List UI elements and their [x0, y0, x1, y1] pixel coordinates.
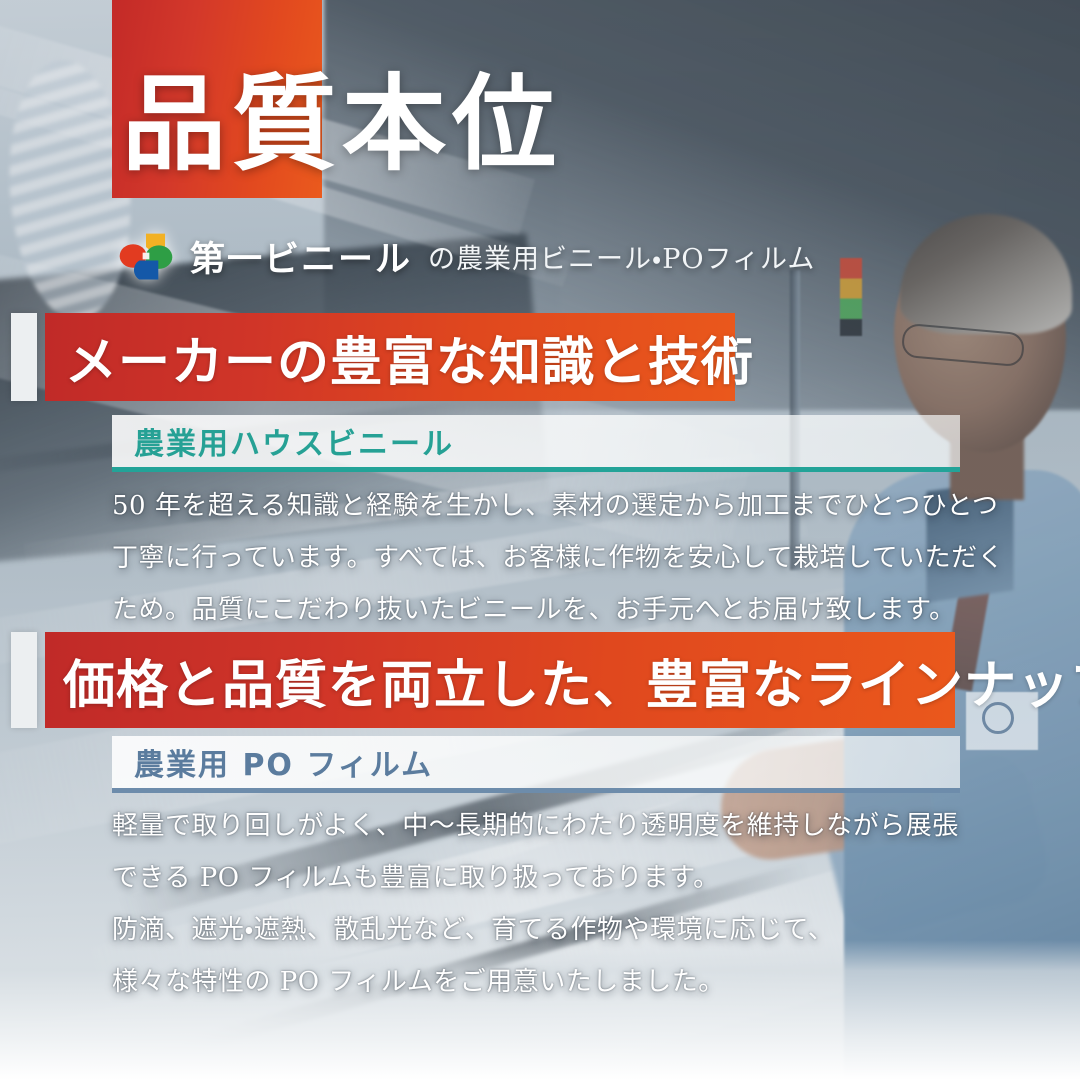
section-banner-1: メーカーの豊富な知識と技術 — [45, 313, 735, 401]
section-banner-2-text: 価格と品質を両立した、豊富なラインナップ — [45, 643, 1080, 718]
brand-name: 第一ビニール — [190, 231, 412, 282]
accent-bar-section-2 — [11, 632, 37, 728]
section-heading-1: 農業用ハウスビニール — [112, 419, 454, 463]
paragraph-line: 丁寧に行っています。すべては、お客様に作物を安心して栽培していただく — [112, 532, 972, 584]
brand-tagline: の農業用ビニール・POフィルム — [428, 237, 815, 276]
section-banner-2: 価格と品質を両立した、豊富なラインナップ — [45, 632, 955, 728]
paragraph-line: 軽量で取り回しがよく、中〜長期的にわたり透明度を維持しながら展張 — [112, 800, 972, 852]
section-heading-rule-2 — [112, 788, 960, 793]
paragraph-line: ため。品質にこだわり抜いたビニールを、お手元へとお届け致します。 — [112, 584, 972, 636]
accent-bar-section-1 — [11, 313, 37, 401]
paragraph-line: 50 年を超える知識と経験を生かし、素材の選定から加工までひとつひとつ — [112, 480, 972, 532]
promo-banner-page: 品質本位 第一ビニール の農業用ビニール・POフィルム メーカーの豊富な知識と技… — [0, 0, 1080, 1080]
paragraph-line: 防滴、遮光・遮熱、散乱光など、育てる作物や環境に応じて、 — [112, 904, 972, 956]
section-heading-band-2: 農業用 PO フィルム — [112, 736, 960, 788]
paragraph-line: 様々な特性の PO フィルムをご用意いたしました。 — [112, 956, 972, 1008]
section-banner-1-text: メーカーの豊富な知識と技術 — [45, 320, 754, 395]
section-heading-rule-1 — [112, 467, 960, 472]
paragraph-line: できる PO フィルムも豊富に取り扱っております。 — [112, 852, 972, 904]
pinwheel-flower-logo-icon — [118, 228, 174, 284]
section-heading-band-1: 農業用ハウスビニール — [112, 415, 960, 467]
page-title: 品質本位 — [122, 72, 562, 176]
section-paragraph-2: 軽量で取り回しがよく、中〜長期的にわたり透明度を維持しながら展張 できる PO … — [112, 800, 972, 1008]
section-paragraph-1: 50 年を超える知識と経験を生かし、素材の選定から加工までひとつひとつ 丁寧に行… — [112, 480, 972, 636]
brand-row: 第一ビニール の農業用ビニール・POフィルム — [118, 228, 815, 284]
section-heading-2: 農業用 PO フィルム — [112, 740, 433, 784]
content-layer: 品質本位 第一ビニール の農業用ビニール・POフィルム メーカーの豊富な知識と技… — [0, 0, 1080, 1080]
